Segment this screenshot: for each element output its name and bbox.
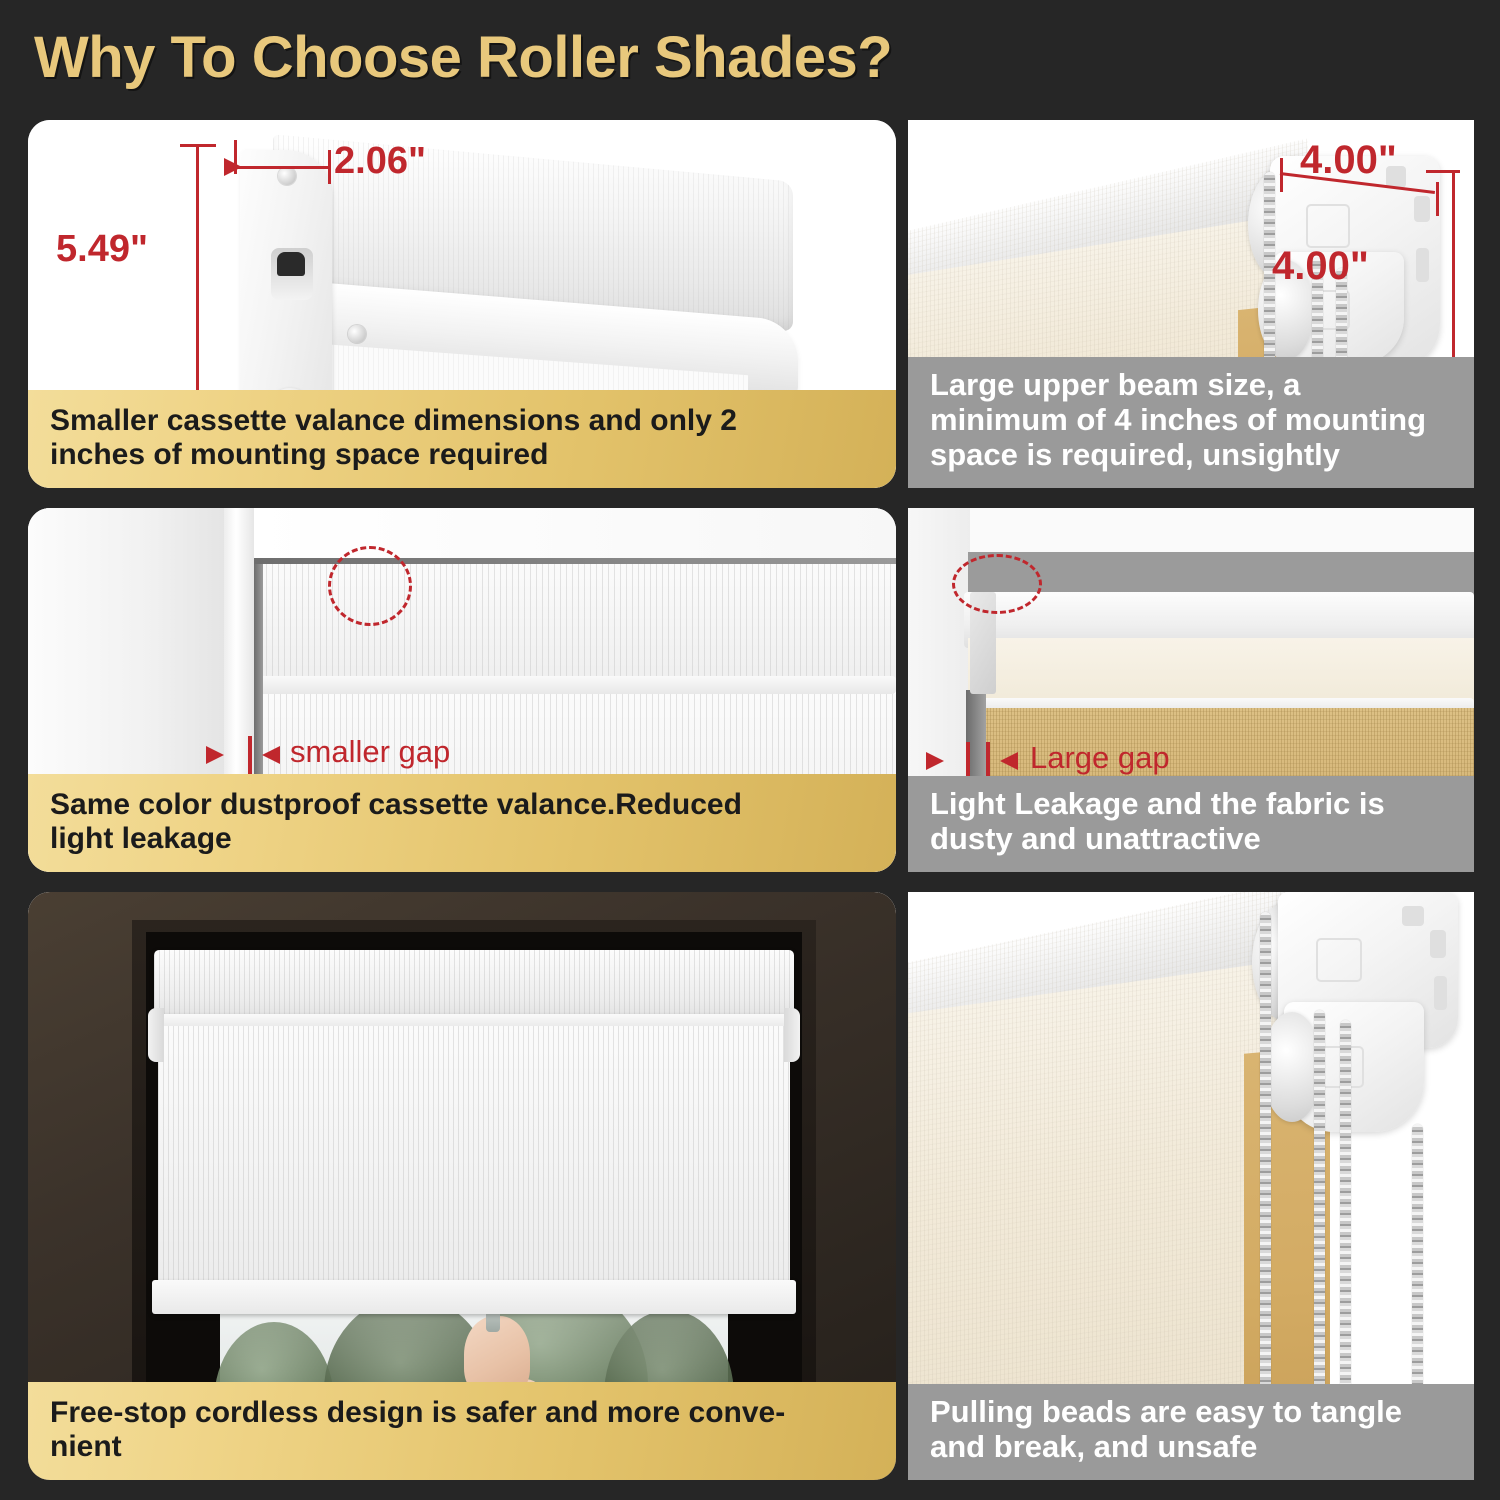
caption-line: minimum of 4 inches of mounting [930,402,1454,437]
gap-marker [248,736,252,774]
panel-cordless-design: Free-stop cordless design is safer and m… [28,892,896,1480]
caption-line: Pulling beads are easy to tangle [930,1394,1454,1429]
panel-caption-smaller-cassette: Smaller cassette valance dimensions and … [28,390,896,488]
dim-line-width [234,166,330,169]
caption-line: inches of mounting space required [50,438,876,472]
panel-pulling-beads: Pulling beads are easy to tangle and bre… [908,892,1474,1480]
dim-arrow-left [224,158,242,176]
panel-caption-pulling-beads: Pulling beads are easy to tangle and bre… [908,1384,1474,1480]
infographic-root: Why To Choose Roller Shades? 2.06" 5.49" [0,0,1500,1500]
caption-line: and break, and unsafe [930,1429,1454,1464]
dim-tick-left [1280,158,1283,192]
cassette-endcap-left [148,1008,164,1062]
gap-marker [966,742,970,780]
cassette-endcap-right [784,1008,800,1062]
dimension-label-height: 5.49" [56,228,148,271]
roll-end-disc-lower [1262,1012,1322,1122]
dimension-label-width: 2.06" [334,140,426,183]
gap-marker [986,742,990,780]
valance-rail [254,676,896,694]
gap-callout-label: smaller gap [290,734,450,770]
cassette-slot [271,248,313,300]
panel-caption-large-upper-beam: Large upper beam size, a minimum of 4 in… [908,357,1474,488]
panel-caption-dustproof-valance: Same color dustproof cassette valance.Re… [28,774,896,872]
caption-line: Large upper beam size, a [930,367,1454,402]
cassette-screw-mid [348,325,366,343]
cassette-screw-top [278,167,296,185]
caption-line: Free-stop cordless design is safer and m… [50,1396,876,1430]
wall-top [908,508,1474,556]
gap-arrow-left [206,746,224,764]
gap-callout-label: Large gap [1030,740,1170,776]
gap-arrow-right [1000,752,1018,770]
dim-tick-top [1426,170,1460,173]
dim-tick-right [1436,182,1439,216]
dimension-label-width: 4.00" [1300,138,1397,183]
panel-caption-light-leakage: Light Leakage and the fabric is dusty an… [908,776,1474,872]
valance-lower-face [968,638,1474,704]
panel-light-leakage: Large gap Light Leakage and the fabric i… [908,508,1474,872]
caption-line: space is required, unsightly [930,437,1454,472]
caption-line: nient [50,1430,876,1464]
gap-arrow-left [926,752,944,770]
page-title: Why To Choose Roller Shades? [34,24,892,91]
caption-line: light leakage [50,822,876,856]
cassette-head [154,950,794,1020]
dim-line-height [1452,170,1455,370]
dimension-label-height: 4.00" [1272,244,1369,289]
dim-tick-top [180,144,216,147]
caption-line: Smaller cassette valance dimensions and … [50,404,876,438]
panel-caption-cordless-design: Free-stop cordless design is safer and m… [28,1382,896,1480]
panel-large-upper-beam: 4.00" 4.00" Large upper beam size, a min… [908,120,1474,488]
caption-line: Light Leakage and the fabric is [930,786,1454,821]
shade-fabric [158,1026,790,1298]
gap-arrow-right [262,746,280,764]
panel-dustproof-valance: smaller gap Same color dustproof cassett… [28,508,896,872]
caption-line: dusty and unattractive [930,821,1454,856]
highlight-circle [952,554,1042,614]
caption-line: Same color dustproof cassette valance.Re… [50,788,876,822]
bottom-rail [152,1280,796,1314]
highlight-circle [328,546,412,626]
panel-smaller-cassette: 2.06" 5.49" Smaller cassette valance dim… [28,120,896,488]
